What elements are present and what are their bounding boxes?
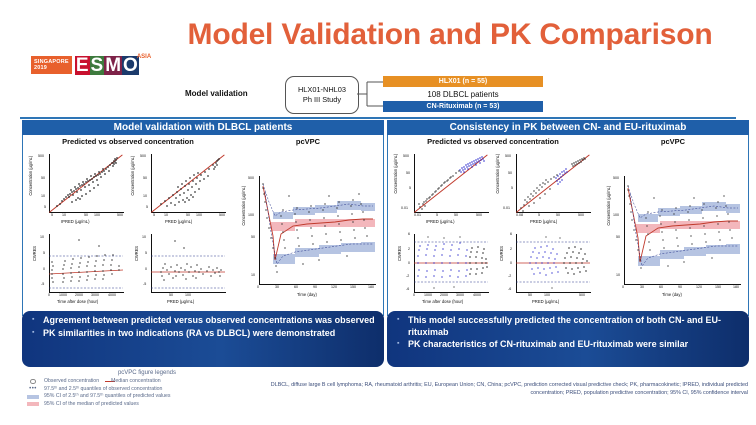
open-circle-icon bbox=[22, 379, 44, 385]
ytick: 500 bbox=[613, 176, 619, 180]
ytick: 10 bbox=[142, 235, 146, 239]
slide-root: SINGAPORE 2019 E S M O ASIA Model Valida… bbox=[0, 0, 756, 425]
cwres-points bbox=[49, 234, 123, 292]
dotted-line-icon: ••• bbox=[22, 386, 44, 393]
blue-band-icon bbox=[22, 395, 44, 399]
pcvpc-legend: pcVPC figure legends Observed concentrat… bbox=[22, 370, 272, 408]
ytick: 6 bbox=[510, 232, 512, 236]
ytick: 500 bbox=[140, 154, 146, 158]
xtick: 5 bbox=[51, 213, 53, 217]
esmo-letter-s: S bbox=[90, 56, 105, 75]
xtick: 0.08 bbox=[516, 213, 523, 217]
conclusion-item: This model successfully predicted the co… bbox=[395, 315, 743, 338]
badge-year: 2019 bbox=[34, 65, 69, 71]
esmo-letter-e: E bbox=[75, 56, 90, 75]
ytick: 5 bbox=[146, 205, 148, 209]
axis-x-label: Time after dose (hour) bbox=[422, 299, 463, 304]
xtick: 500 bbox=[219, 213, 225, 217]
panel-pk-consistency: Consistency in PK between CN- and EU-rit… bbox=[387, 120, 749, 316]
arm-cn-rituximab-bar: CN-Rituximab (n = 53) bbox=[383, 101, 543, 112]
chart-left-gof-ipred: Concentration (µg/mL) 500 50 10 5 bbox=[27, 150, 127, 228]
chart-right-cwres-pred: CWRES 6 2 0 -2 -6 bbox=[494, 230, 594, 308]
esmo-letter-m: M bbox=[104, 56, 122, 75]
flow-label: Model validation bbox=[185, 89, 248, 98]
page-title: Model Validation and PK Comparison bbox=[160, 18, 740, 52]
axis-y-label: Concentration (µg/mL) bbox=[393, 154, 398, 194]
ytick: 0 bbox=[408, 261, 410, 265]
congress-badge: SINGAPORE 2019 bbox=[31, 56, 72, 74]
xtick: 5 bbox=[153, 213, 155, 217]
legend-label: Observed concentration bbox=[44, 378, 99, 385]
xtick: 150 bbox=[350, 285, 356, 289]
panel-left-plots: Concentration (µg/mL) 500 50 10 5 bbox=[23, 148, 383, 315]
axis-y-label: CWRES bbox=[499, 246, 504, 261]
ytick: 50 bbox=[41, 176, 45, 180]
xtick: 3000 bbox=[91, 293, 99, 297]
xtick: 0 bbox=[257, 285, 259, 289]
conclusion-item: PK similarities in two indications (RA v… bbox=[30, 328, 378, 340]
cwres-points bbox=[151, 234, 225, 292]
ytick: -6 bbox=[406, 287, 409, 291]
axis-y-label: Concentration (µg/mL) bbox=[241, 186, 246, 226]
xtick: 30 bbox=[640, 285, 644, 289]
ytick: 500 bbox=[403, 154, 409, 158]
cwres-points bbox=[516, 234, 590, 292]
xtick: 0 bbox=[622, 285, 624, 289]
ytick: 5 bbox=[44, 205, 46, 209]
ytick: 5 bbox=[145, 251, 147, 255]
xtick: 0 bbox=[48, 293, 50, 297]
xtick: 100 bbox=[544, 293, 550, 297]
panel-left-body: Predicted vs observed concentration pcVP… bbox=[22, 135, 384, 316]
conclusion-box-right: This model successfully predicted the co… bbox=[387, 311, 749, 367]
gof-points bbox=[516, 154, 590, 212]
esmo-asia-label: ASIA bbox=[137, 54, 151, 60]
xtick: 4000 bbox=[108, 293, 116, 297]
ytick: 5 bbox=[43, 251, 45, 255]
axis-y-label: Concentration (µg/mL) bbox=[28, 156, 33, 196]
xtick: 1000 bbox=[424, 293, 432, 297]
subheader-gof-left: Predicted vs observed concentration bbox=[23, 137, 233, 146]
ytick: 500 bbox=[505, 154, 511, 158]
conclusion-item: PK characteristics of CN-rituximab and E… bbox=[395, 339, 743, 351]
legend-title: pcVPC figure legends bbox=[22, 370, 272, 376]
legend-label: 97.5ᵗʰ and 2.5ᵗʰ quantiles of observed c… bbox=[44, 386, 162, 393]
axis-x-label: PRED (µg/mL) bbox=[165, 219, 192, 224]
header-divider bbox=[20, 117, 736, 119]
ytick: 2 bbox=[510, 247, 512, 251]
panel-left-subheaders: Predicted vs observed concentration pcVP… bbox=[23, 135, 383, 148]
ytick: 0 bbox=[43, 267, 45, 271]
xtick: 500 bbox=[578, 213, 584, 217]
xtick: 1000 bbox=[59, 293, 67, 297]
panel-right-subheaders: Predicted vs observed concentration pcVP… bbox=[388, 135, 748, 148]
chart-left-gof-pred: Concentration (µg/mL) 500 50 10 5 bbox=[129, 150, 229, 228]
total-patients-label: 108 DLBCL patients bbox=[383, 88, 543, 100]
study-box: HLX01-NHL03 Ph III Study bbox=[285, 76, 359, 114]
ytick: 10 bbox=[40, 235, 44, 239]
ytick: 0.01 bbox=[503, 206, 510, 210]
xtick: 60 bbox=[294, 285, 298, 289]
chart-left-pcvpc: Concentration (µg/mL) 500 100 50 10 bbox=[235, 162, 381, 308]
xtick: 5 bbox=[538, 213, 540, 217]
ytick: 0 bbox=[145, 267, 147, 271]
legend-label: Median concentration bbox=[111, 378, 161, 385]
pcvpc-plot bbox=[259, 176, 375, 284]
chart-right-gof-ipred: Concentration (µg/mL) 500 50 5 0.01 bbox=[392, 150, 492, 228]
chart-right-cwres-time: CWRES 6 2 0 -2 -6 bbox=[392, 230, 492, 308]
xtick: 0 bbox=[413, 293, 415, 297]
xtick: 500 bbox=[117, 213, 123, 217]
gof-points bbox=[151, 154, 225, 212]
panel-left-header: Model validation with DLBCL patients bbox=[22, 120, 384, 135]
axis-y-label: Concentration (µg/mL) bbox=[606, 186, 611, 226]
study-phase: Ph III Study bbox=[303, 95, 341, 105]
xtick: 30 bbox=[275, 285, 279, 289]
esmo-asia-logo: SINGAPORE 2019 E S M O ASIA bbox=[31, 50, 159, 80]
xtick: 500 bbox=[579, 293, 585, 297]
subheader-gof-right: Predicted vs observed concentration bbox=[388, 137, 598, 146]
xtick: 120 bbox=[331, 285, 337, 289]
ytick: 0.01 bbox=[401, 206, 408, 210]
axis-x-label: PRED (µg/mL) bbox=[167, 299, 194, 304]
conclusion-item: Agreement between predicted versus obser… bbox=[30, 315, 378, 327]
axis-y-label: Concentration (µg/mL) bbox=[495, 154, 500, 194]
pcvpc-plot bbox=[624, 176, 740, 284]
axis-x-label: Time after dose (hour) bbox=[57, 299, 98, 304]
red-band-icon bbox=[22, 402, 44, 406]
panel-right-body: Predicted vs observed concentration pcVP… bbox=[387, 135, 749, 316]
study-flow-diagram: Model validation HLX01-NHL03 Ph III Stud… bbox=[185, 76, 565, 116]
chart-left-cwres-pred: CWRES 10 5 0 -5 bbox=[129, 230, 229, 308]
flow-connector bbox=[357, 79, 383, 109]
xtick: 500 bbox=[476, 213, 482, 217]
xtick: 3000 bbox=[456, 293, 464, 297]
ytick: 50 bbox=[406, 171, 410, 175]
xtick: 5 bbox=[436, 213, 438, 217]
xtick: 100 bbox=[94, 213, 100, 217]
legend-row: ••• 97.5ᵗʰ and 2.5ᵗʰ quantiles of observ… bbox=[22, 386, 272, 393]
xtick: 180 bbox=[733, 285, 739, 289]
xtick: 4000 bbox=[473, 293, 481, 297]
ytick: 2 bbox=[408, 247, 410, 251]
ytick: 10 bbox=[616, 273, 620, 277]
xtick: 50 bbox=[186, 213, 190, 217]
axis-y-label: CWRES bbox=[32, 246, 37, 261]
ytick: 5 bbox=[511, 186, 513, 190]
subheader-pcvpc-left: pcVPC bbox=[233, 137, 383, 146]
conclusion-box-left: Agreement between predicted versus obser… bbox=[22, 311, 384, 367]
xtick: 50 bbox=[556, 213, 560, 217]
legend-row: Observed concentration Median concentrat… bbox=[22, 378, 272, 385]
subheader-pcvpc-right: pcVPC bbox=[598, 137, 748, 146]
chart-right-gof-pred: Concentration (µg/mL) 500 50 5 0.01 bbox=[494, 150, 594, 228]
axis-y-label: Concentration (µg/mL) bbox=[130, 156, 135, 196]
ytick: 50 bbox=[616, 235, 620, 239]
ytick: 500 bbox=[38, 154, 44, 158]
ytick: 10 bbox=[251, 273, 255, 277]
axis-x-label: PRED (µg/mL) bbox=[530, 219, 557, 224]
xtick: 10 bbox=[62, 213, 66, 217]
study-id: HLX01-NHL03 bbox=[298, 85, 346, 95]
panel-right-header: Consistency in PK between CN- and EU-rit… bbox=[387, 120, 749, 135]
axis-x-label: IPRED (µg/mL) bbox=[426, 219, 454, 224]
xtick: 90 bbox=[313, 285, 317, 289]
ytick: 50 bbox=[143, 176, 147, 180]
axis-x-label: IPRED (µg/mL) bbox=[61, 219, 89, 224]
axis-y-label: CWRES bbox=[397, 246, 402, 261]
axis-x-label: PRED (µg/mL) bbox=[532, 299, 559, 304]
xtick: 90 bbox=[678, 285, 682, 289]
ytick: 5 bbox=[409, 186, 411, 190]
ytick: -2 bbox=[508, 274, 511, 278]
ytick: 100 bbox=[613, 213, 619, 217]
axis-y-label: CWRES bbox=[134, 246, 139, 261]
xtick: 50 bbox=[84, 213, 88, 217]
cwres-points bbox=[414, 234, 488, 292]
esmo-wordmark: E S M O ASIA bbox=[75, 56, 139, 75]
ytick: 10 bbox=[41, 194, 45, 198]
xtick: 0.01 bbox=[414, 213, 421, 217]
xtick: 120 bbox=[696, 285, 702, 289]
ytick: 50 bbox=[508, 171, 512, 175]
abbreviations-footnote: DLBCL, diffuse large B cell lymphoma; RA… bbox=[262, 382, 748, 397]
xtick: 180 bbox=[368, 285, 374, 289]
xtick: 100 bbox=[196, 213, 202, 217]
ytick: 10 bbox=[143, 194, 147, 198]
ytick: -6 bbox=[508, 287, 511, 291]
arm-hlx01-bar: HLX01 (n = 55) bbox=[383, 76, 543, 87]
panel-model-validation: Model validation with DLBCL patients Pre… bbox=[22, 120, 384, 316]
ytick: -5 bbox=[41, 282, 44, 286]
xtick: 2000 bbox=[75, 293, 83, 297]
panel-right-plots: Concentration (µg/mL) 500 50 5 0.01 bbox=[388, 148, 748, 315]
ytick: 50 bbox=[251, 235, 255, 239]
gof-points bbox=[414, 154, 488, 212]
legend-label: 95% CI of 2.5ᵗʰ and 97.5ᵗʰ quantiles of … bbox=[44, 393, 171, 400]
gof-points bbox=[49, 154, 123, 212]
ytick: -5 bbox=[143, 282, 146, 286]
xtick: 10 bbox=[164, 213, 168, 217]
ytick: 100 bbox=[248, 213, 254, 217]
legend-row: 95% CI of the median of predicted values bbox=[22, 401, 272, 408]
xtick: 50 bbox=[528, 293, 532, 297]
legend-label: 95% CI of the median of predicted values bbox=[44, 401, 139, 408]
xtick: 50 bbox=[169, 293, 173, 297]
axis-x-label: Time (day) bbox=[297, 292, 317, 297]
xtick: 150 bbox=[715, 285, 721, 289]
ytick: 500 bbox=[248, 176, 254, 180]
legend-row: 95% CI of 2.5ᵗʰ and 97.5ᵗʰ quantiles of … bbox=[22, 393, 272, 400]
xtick: 100 bbox=[185, 293, 191, 297]
ytick: 0 bbox=[510, 261, 512, 265]
xtick: 60 bbox=[659, 285, 663, 289]
ytick: 6 bbox=[408, 232, 410, 236]
chart-right-pcvpc: Concentration (µg/mL) 500 100 50 10 bbox=[600, 162, 746, 308]
chart-left-cwres-time: CWRES 10 5 0 -5 bbox=[27, 230, 127, 308]
axis-x-label: Time (day) bbox=[662, 292, 682, 297]
xtick: 2000 bbox=[440, 293, 448, 297]
ytick: -2 bbox=[406, 274, 409, 278]
xtick: 50 bbox=[454, 213, 458, 217]
